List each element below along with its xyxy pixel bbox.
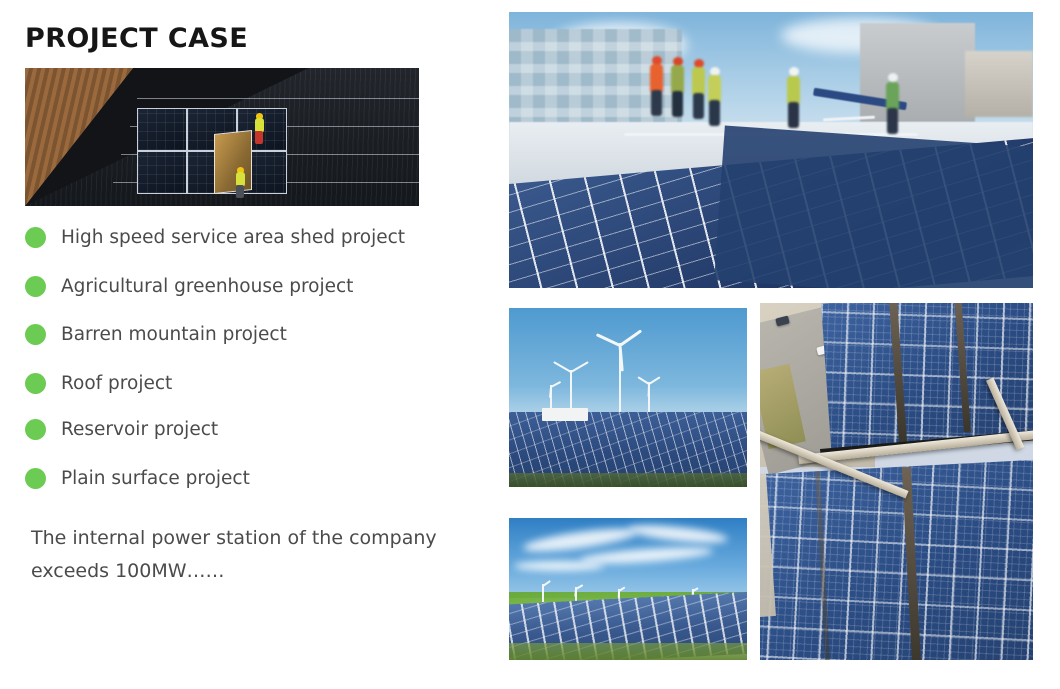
bullet-dot-icon: [25, 419, 46, 440]
left-content-column: PROJECT CASE: [0, 0, 500, 689]
page-title: PROJECT CASE: [25, 23, 248, 54]
bullet-dot-icon: [25, 373, 46, 394]
list-item-label: High speed service area shed project: [61, 227, 405, 248]
list-item[interactable]: Reservoir project: [25, 416, 218, 442]
list-item[interactable]: Roof project: [25, 370, 172, 396]
list-item[interactable]: Barren mountain project: [25, 321, 287, 347]
list-item-label: Plain surface project: [61, 468, 250, 489]
list-item-label: Agricultural greenhouse project: [61, 276, 353, 297]
list-item-label: Roof project: [61, 373, 172, 394]
photo-roof-installation: [25, 68, 419, 206]
summary-paragraph: The internal power station of the compan…: [31, 522, 451, 588]
bullet-dot-icon: [25, 324, 46, 345]
bullet-dot-icon: [25, 468, 46, 489]
list-item[interactable]: Agricultural greenhouse project: [25, 273, 353, 299]
list-item-label: Reservoir project: [61, 419, 218, 440]
bullet-dot-icon: [25, 227, 46, 248]
photo-windfarm-solar-plant: [509, 308, 747, 487]
list-item[interactable]: High speed service area shed project: [25, 224, 405, 250]
photo-rooftop-install-crew: [509, 12, 1033, 288]
list-item[interactable]: Plain surface project: [25, 465, 250, 491]
photo-green-hills-solar-farm: [509, 518, 747, 660]
photo-aerial-rooftop-array: [760, 303, 1033, 660]
bullet-dot-icon: [25, 276, 46, 297]
tilted-panel-icon: [214, 130, 252, 194]
list-item-label: Barren mountain project: [61, 324, 287, 345]
